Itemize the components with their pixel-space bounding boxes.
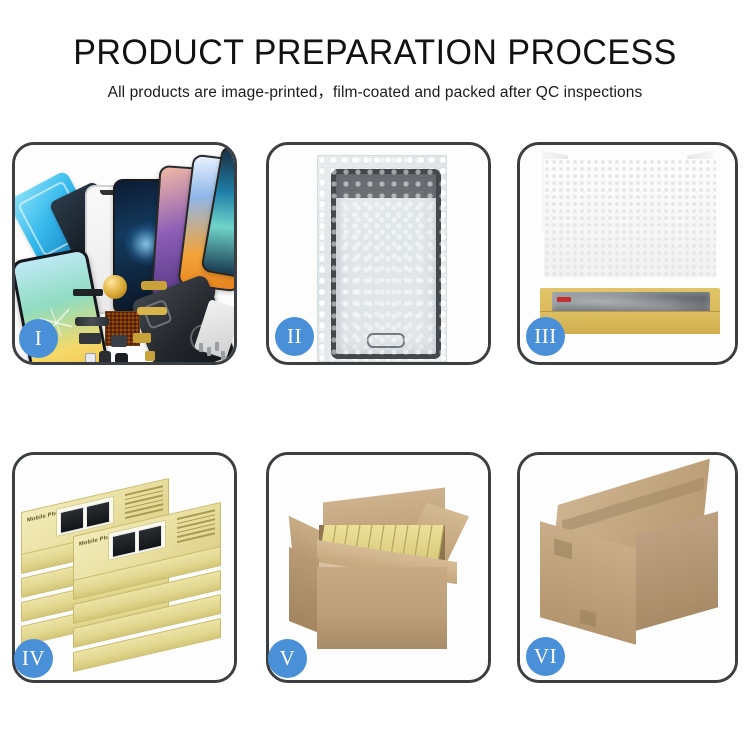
- sim-tray-part: [85, 353, 96, 362]
- step-panel-2[interactable]: II: [266, 142, 491, 365]
- wireless-charging-coil-icon: [103, 275, 127, 299]
- open-carton: [289, 481, 475, 661]
- step-badge-1: I: [19, 319, 58, 358]
- front-camera-part: [99, 351, 111, 362]
- step-panel-5[interactable]: V: [266, 452, 491, 683]
- box-front-panel: [540, 311, 720, 334]
- step-panel-1[interactable]: I: [12, 142, 237, 365]
- step-badge-4: IV: [14, 639, 53, 678]
- rear-camera-part: [115, 353, 128, 362]
- process-step-grid: I II III: [0, 0, 750, 750]
- foam-padding: [544, 159, 716, 277]
- camera-module-part: [111, 335, 127, 347]
- gold-flex-part: [141, 281, 167, 290]
- step-badge-5: V: [268, 639, 307, 678]
- antenna-flex-part: [133, 333, 151, 343]
- kraft-box-tray: [540, 288, 720, 334]
- gold-connector-part: [137, 307, 167, 315]
- phone-screen-glass: [331, 169, 441, 359]
- carton-side-panel: [289, 547, 319, 633]
- step-badge-2: II: [275, 317, 314, 356]
- step-badge-3: III: [526, 317, 565, 356]
- battery-connector-part: [79, 333, 101, 344]
- step-panel-4[interactable]: Mobile Phone Spare Parts Mobile Phone Sp…: [12, 452, 237, 683]
- screws-group: [197, 341, 227, 362]
- step-panel-6[interactable]: VI: [517, 452, 738, 683]
- carton-body: [317, 567, 447, 649]
- step-panel-3[interactable]: III: [517, 142, 738, 365]
- speaker-part: [75, 317, 109, 326]
- step-badge-6: VI: [526, 637, 565, 676]
- flex-cable-part: [73, 289, 103, 296]
- gold-contact-part: [145, 351, 155, 361]
- box-stack: Mobile Phone Spare Parts Mobile Phone Sp…: [19, 471, 233, 669]
- sealed-carton: [536, 483, 728, 651]
